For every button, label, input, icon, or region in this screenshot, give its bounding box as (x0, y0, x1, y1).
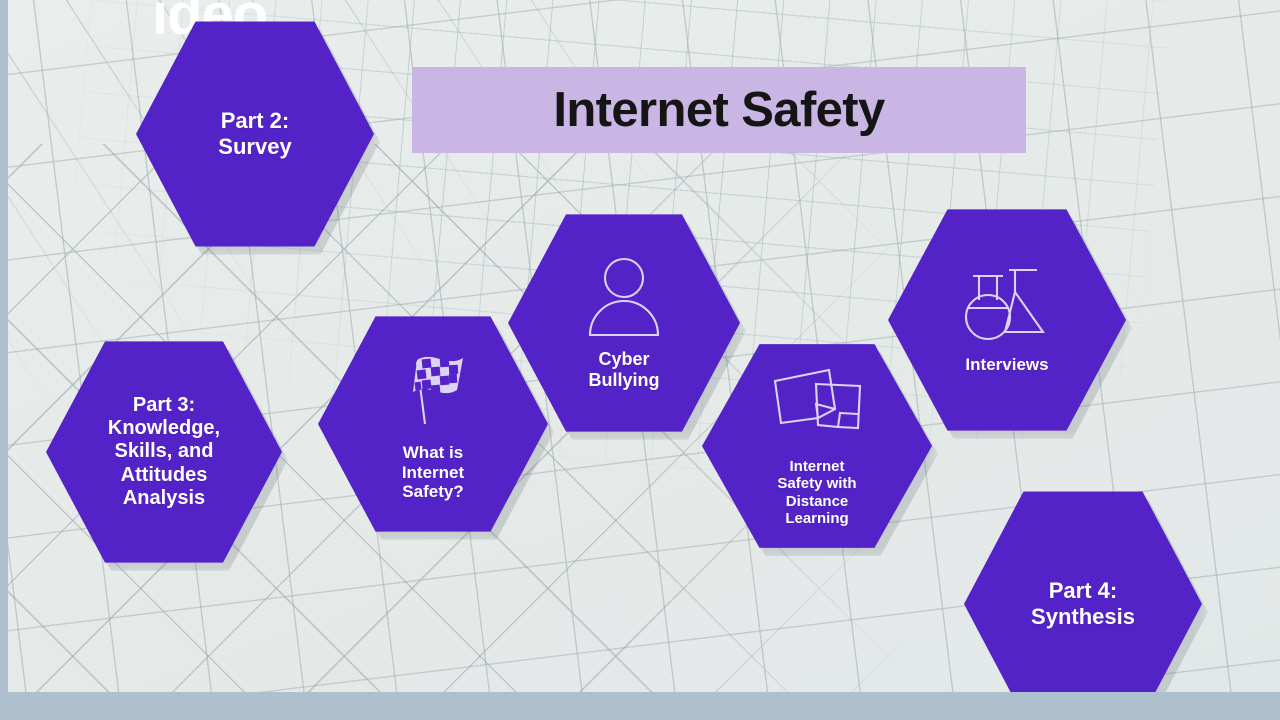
slide-canvas: ideo Part 2: Survey Part 3: Knowledge, S… (0, 0, 1280, 720)
documents-icon (766, 365, 868, 452)
hexagon-label: Part 3: Knowledge, Skills, and Attitudes… (108, 394, 220, 510)
letterbox-bottom (0, 692, 1280, 720)
hexagon-label: What is Internet Safety? (402, 443, 464, 502)
hexagon-label: Interviews (965, 355, 1048, 375)
title-banner: Internet Safety (412, 67, 1026, 153)
hexagon-label: Internet Safety with Distance Learning (777, 458, 856, 528)
hexagon-label: Cyber Bullying (589, 349, 660, 391)
checkered-flag-icon (395, 346, 471, 437)
page-title: Internet Safety (553, 86, 884, 135)
hexagon-label: Part 2: Survey (218, 108, 291, 159)
person-icon (581, 256, 667, 343)
flasks-icon (963, 266, 1051, 349)
letterbox-left (0, 0, 8, 720)
hexagon-label: Part 4: Synthesis (1031, 578, 1135, 629)
